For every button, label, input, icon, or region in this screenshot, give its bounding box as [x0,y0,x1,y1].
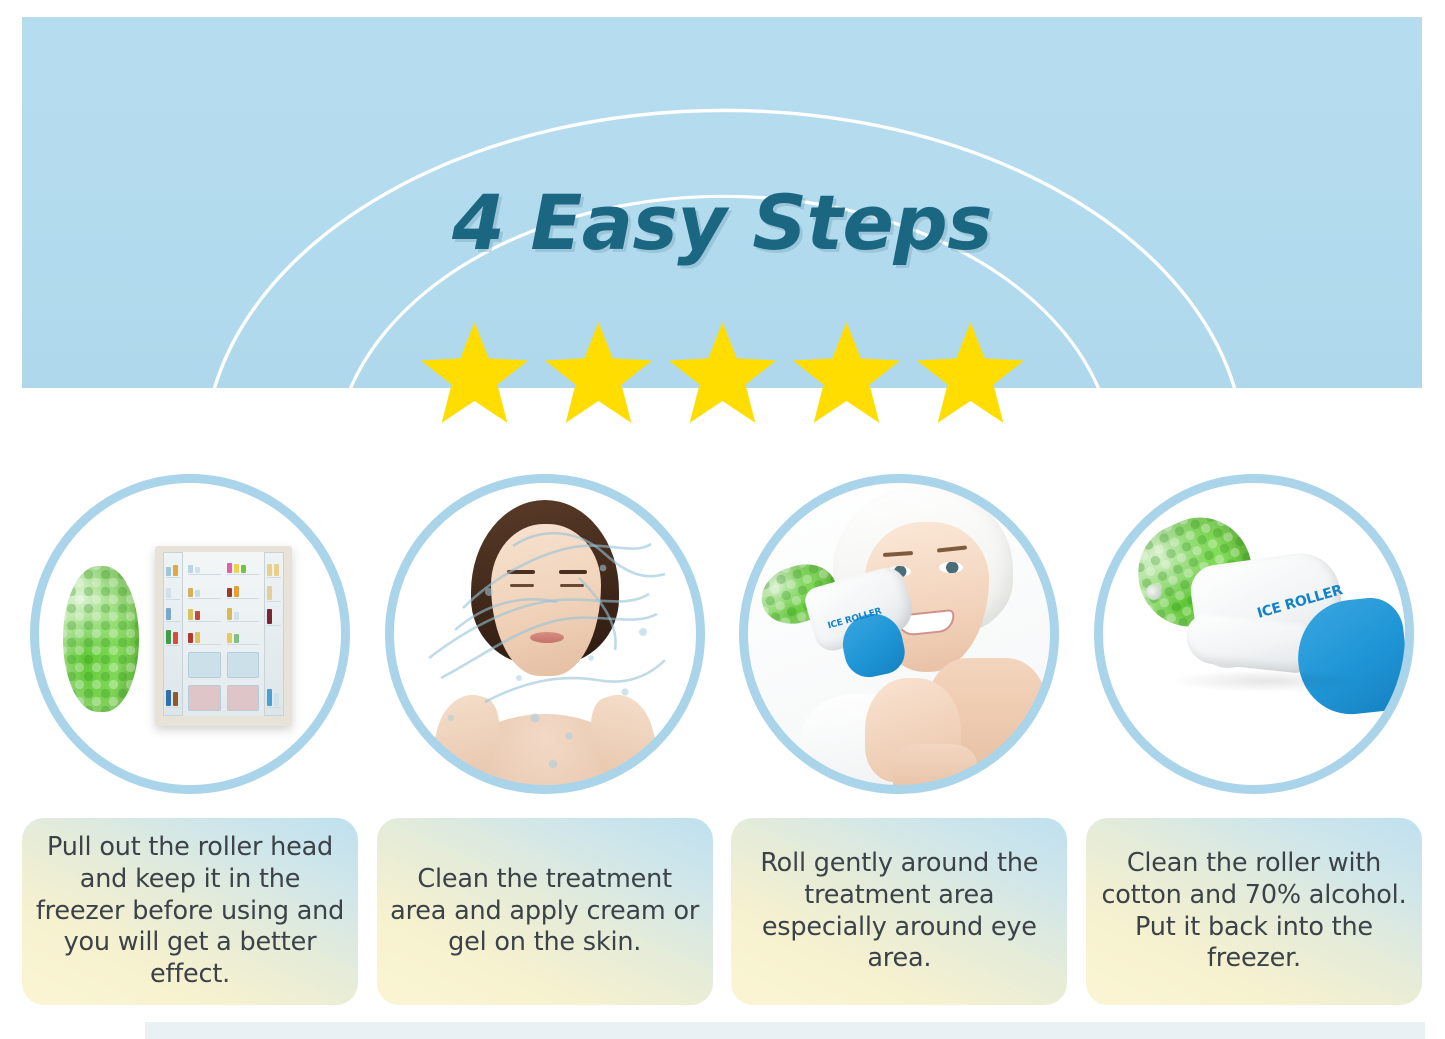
bottom-strip [145,1022,1425,1039]
step-2-image-circle [385,474,705,794]
step-2-caption-text: Clean the treatment area and apply cream… [389,864,701,959]
step-4-caption-text: Clean the roller with cotton and 70% alc… [1098,848,1410,974]
product-shadow [1172,670,1362,692]
step-1: Pull out the roller head and keep it in … [22,474,358,1005]
step-3-image-circle: ICE ROLLER [739,474,1059,794]
green-roller-head [63,566,139,712]
page-title: 4 Easy Steps [22,185,1422,261]
roller-head-and-freezer-photo [38,482,342,786]
step-1-caption-text: Pull out the roller head and keep it in … [34,832,346,990]
infographic-stage: 4 Easy Steps [0,0,1445,1039]
refrigerator-illustration [155,546,292,726]
ice-roller-product-photo: ICE ROLLER [1102,482,1406,786]
step-4: ICE ROLLER Clean the roller with cotton … [1086,474,1422,1005]
forearm [893,744,977,786]
woman-washing-face-photo [393,482,697,786]
step-2: Clean the treatment area and apply cream… [377,474,713,1005]
steps-row: Pull out the roller head and keep it in … [22,474,1422,1005]
step-4-image-circle: ICE ROLLER [1094,474,1414,794]
step-3: ICE ROLLER Roll gently around the treatm… [731,474,1067,1005]
step-4-caption-box: Clean the roller with cotton and 70% alc… [1086,818,1422,1005]
header-banner: 4 Easy Steps [22,17,1422,388]
step-1-caption-box: Pull out the roller head and keep it in … [22,818,358,1005]
water-splash [393,482,697,786]
step-3-caption-text: Roll gently around the treatment area es… [743,848,1055,974]
step-3-caption-box: Roll gently around the treatment area es… [731,818,1067,1005]
step-1-image-circle [30,474,350,794]
step-2-caption-box: Clean the treatment area and apply cream… [377,818,713,1005]
woman-using-ice-roller-photo: ICE ROLLER [747,482,1051,786]
